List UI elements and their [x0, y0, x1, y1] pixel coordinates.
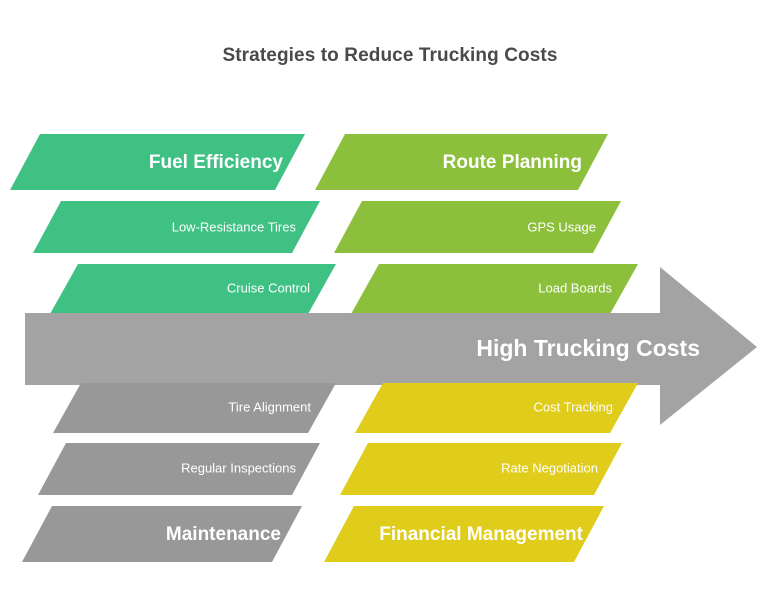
branch-route-planning: Route Planning GPS Usage Load Boards: [315, 134, 638, 314]
branch-item-label-load-boards: Load Boards: [538, 280, 612, 295]
branch-heading-label-financial-management: Financial Management: [379, 524, 583, 545]
branch-item-label-low-resistance-tires: Low-Resistance Tires: [172, 219, 297, 234]
branch-item-label-cruise-control: Cruise Control: [227, 280, 310, 295]
branch-item-label-rate-negotiation: Rate Negotiation: [501, 460, 598, 475]
branch-heading-label-fuel-efficiency: Fuel Efficiency: [149, 152, 284, 173]
branch-heading-label-route-planning: Route Planning: [443, 152, 582, 173]
branch-item-label-tire-alignment: Tire Alignment: [228, 399, 311, 414]
branch-maintenance: Tire Alignment Regular Inspections Maint…: [22, 383, 336, 562]
branch-fuel-efficiency: Fuel Efficiency Low-Resistance Tires Cru…: [10, 134, 336, 314]
branch-financial-management: Cost Tracking Rate Negotiation Financial…: [324, 383, 638, 562]
branch-heading-label-maintenance: Maintenance: [166, 524, 281, 545]
branch-item-label-cost-tracking: Cost Tracking: [534, 399, 613, 414]
fishbone-diagram: Strategies to Reduce Trucking Costs Fuel…: [0, 0, 780, 613]
fishbone-canvas: Fuel Efficiency Low-Resistance Tires Cru…: [0, 0, 780, 613]
spine-arrow-label: High Trucking Costs: [476, 335, 700, 361]
branch-item-label-regular-inspections: Regular Inspections: [181, 460, 296, 475]
branch-item-label-gps-usage: GPS Usage: [527, 219, 596, 234]
